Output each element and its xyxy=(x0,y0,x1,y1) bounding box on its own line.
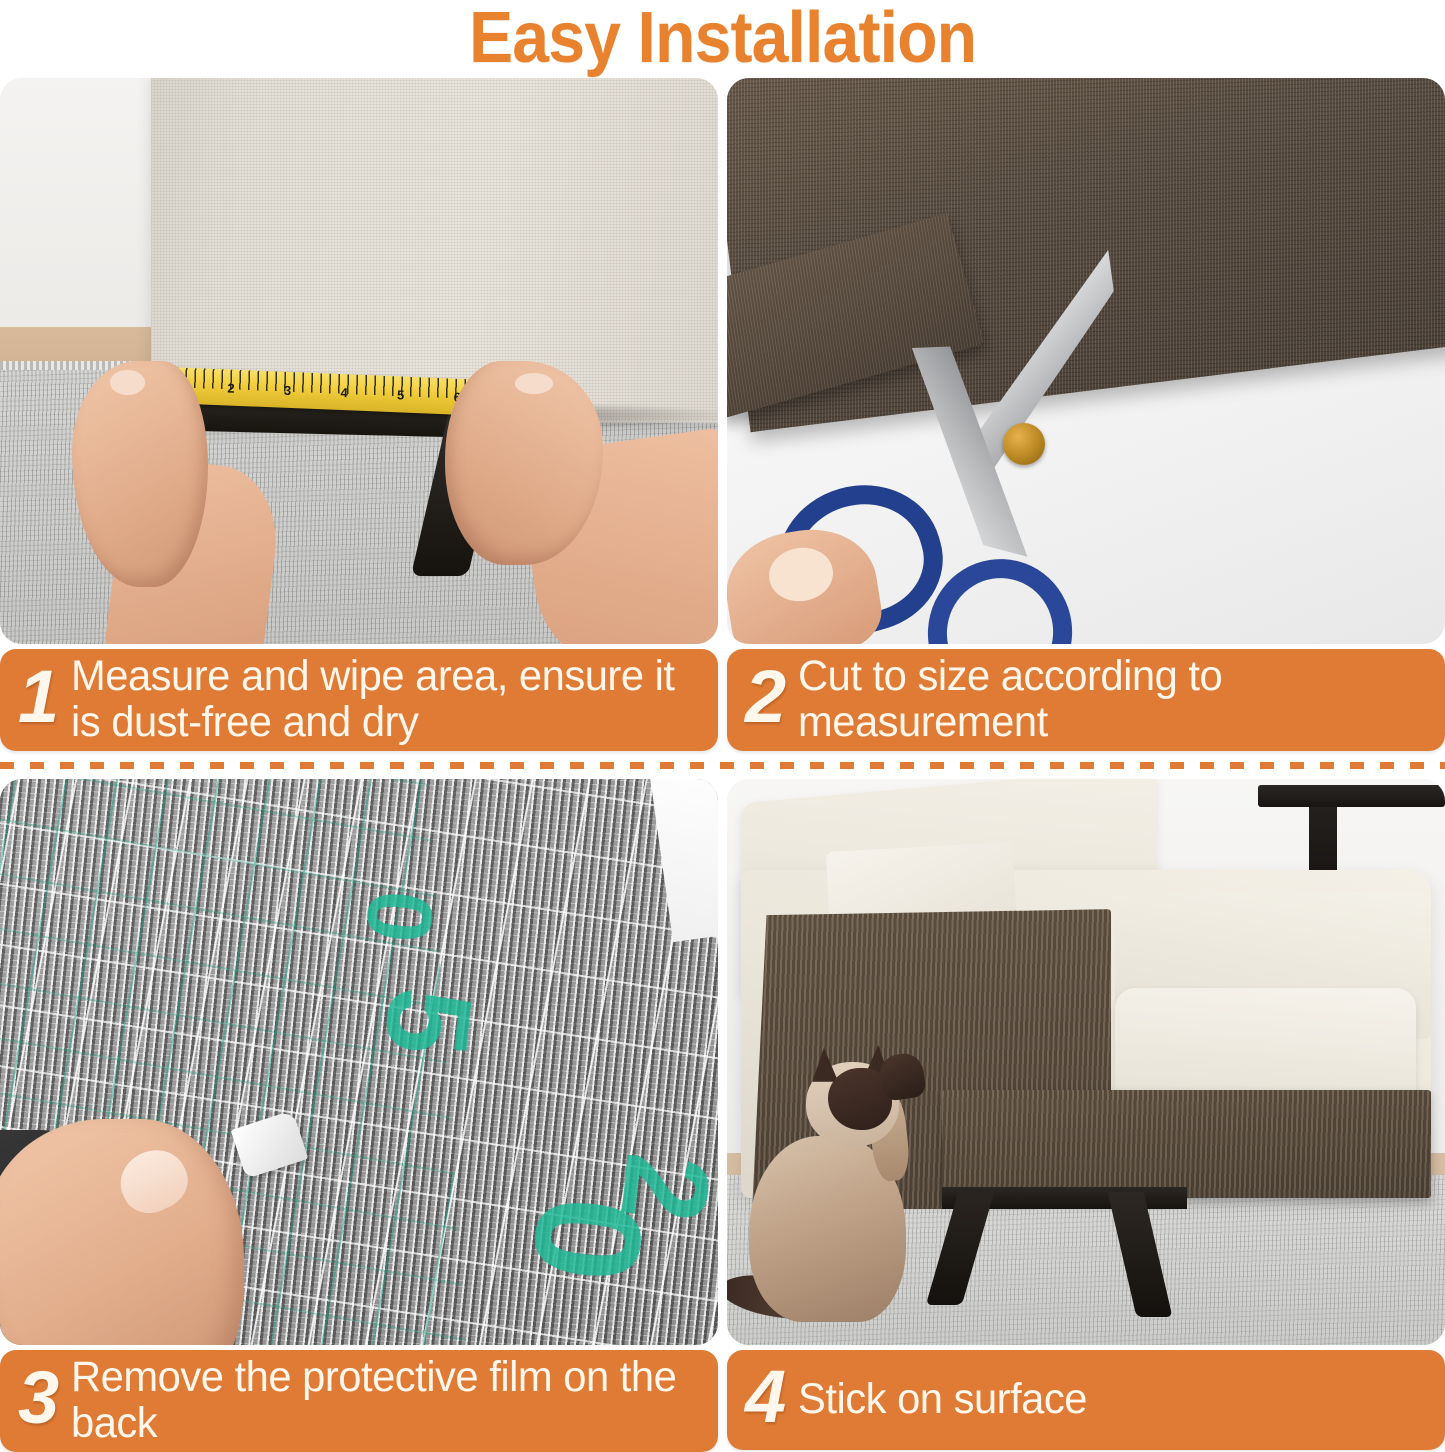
step-3-photo: 0 5 0 2 xyxy=(0,779,718,1345)
step-3-text: Remove the protective film on the back xyxy=(71,1354,689,1446)
step-2-photo xyxy=(727,78,1445,644)
scratch-mat-front-panel xyxy=(942,1090,1430,1198)
grid-number: 0 xyxy=(344,885,454,947)
fingernail xyxy=(110,370,145,395)
step-2-text: Cut to size according to measurement xyxy=(798,653,1416,745)
thumbnail xyxy=(766,544,837,606)
step-1-caption: 1 Measure and wipe area, ensure it is du… xyxy=(0,649,718,751)
hand-peeling-film xyxy=(0,1119,244,1345)
step-2-number: 2 xyxy=(735,660,798,738)
step-3-caption: 3 Remove the protective film on the back xyxy=(0,1350,718,1452)
step-4-number: 4 xyxy=(735,1360,798,1438)
side-table-top xyxy=(1258,785,1445,808)
tape-number: 2 xyxy=(227,380,235,395)
fingernail xyxy=(110,1139,197,1222)
step-card-4: 4 Stick on surface xyxy=(727,779,1445,1452)
step-4-text: Stick on surface xyxy=(798,1376,1416,1422)
page-header: Easy Installation xyxy=(0,0,1445,78)
step-3-number: 3 xyxy=(8,1361,71,1439)
step-card-3: 0 5 0 2 3 Remove the protective film on … xyxy=(0,779,718,1452)
fingernail xyxy=(515,373,553,393)
step-card-2: 2 Cut to size according to measurement xyxy=(727,78,1445,751)
step-2-caption: 2 Cut to size according to measurement xyxy=(727,649,1445,751)
tape-number: 4 xyxy=(340,385,348,400)
tape-number: 3 xyxy=(284,383,292,398)
step-card-1: 1 2 3 4 5 6 1 Measure and wipe area, ens… xyxy=(0,78,718,751)
step-1-photo: 1 2 3 4 5 6 xyxy=(0,78,718,644)
grid-number: 2 xyxy=(593,1147,718,1228)
dashed-row-divider xyxy=(0,762,1445,769)
step-4-caption: 4 Stick on surface xyxy=(727,1350,1445,1450)
step-1-text: Measure and wipe area, ensure it is dust… xyxy=(71,653,689,745)
step-1-number: 1 xyxy=(8,660,71,738)
steps-grid: 1 2 3 4 5 6 1 Measure and wipe area, ens… xyxy=(0,78,1445,1452)
step-4-photo xyxy=(727,779,1445,1345)
tape-number: 5 xyxy=(397,387,405,402)
page-title: Easy Installation xyxy=(469,0,976,76)
